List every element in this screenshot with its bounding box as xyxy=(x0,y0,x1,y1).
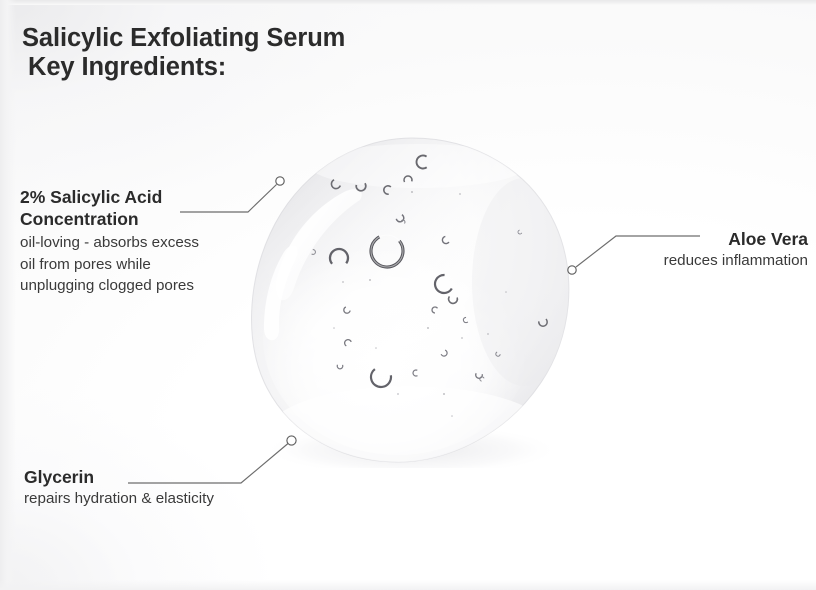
callout-glycerin-title: Glycerin xyxy=(24,466,294,488)
page-title-line-1: Salicylic Exfoliating Serum xyxy=(22,24,345,53)
page-title-line-2: Key Ingredients: xyxy=(22,53,345,82)
callout-salicylic-title-line-2: Concentration xyxy=(20,208,270,230)
callout-glycerin-body: repairs hydration & elasticity xyxy=(24,489,294,509)
background-left-band xyxy=(0,0,16,590)
callout-aloe-body: reduces inflammation xyxy=(578,251,808,271)
serum-droplet-graphic xyxy=(248,132,578,468)
serum-ingredients-infographic: Salicylic Exfoliating Serum Key Ingredie… xyxy=(0,0,816,590)
callout-salicylic-body-line-3: unplugging clogged pores xyxy=(20,276,270,296)
callout-glycerin: Glycerin repairs hydration & elasticity xyxy=(24,466,294,509)
callout-salicylic-body-line-2: oil from pores while xyxy=(20,255,270,275)
callout-salicylic-title-line-1: 2% Salicylic Acid xyxy=(20,186,270,208)
callout-aloe-title: Aloe Vera xyxy=(578,228,808,250)
callout-salicylic-acid: 2% Salicylic Acid Concentration oil-lovi… xyxy=(20,186,270,296)
page-title: Salicylic Exfoliating Serum Key Ingredie… xyxy=(22,24,345,81)
background-top-band xyxy=(0,0,816,5)
callout-salicylic-body-line-1: oil-loving - absorbs excess xyxy=(20,233,270,253)
callout-aloe-vera: Aloe Vera reduces inflammation xyxy=(578,228,808,271)
background-bottom-band xyxy=(0,580,816,590)
